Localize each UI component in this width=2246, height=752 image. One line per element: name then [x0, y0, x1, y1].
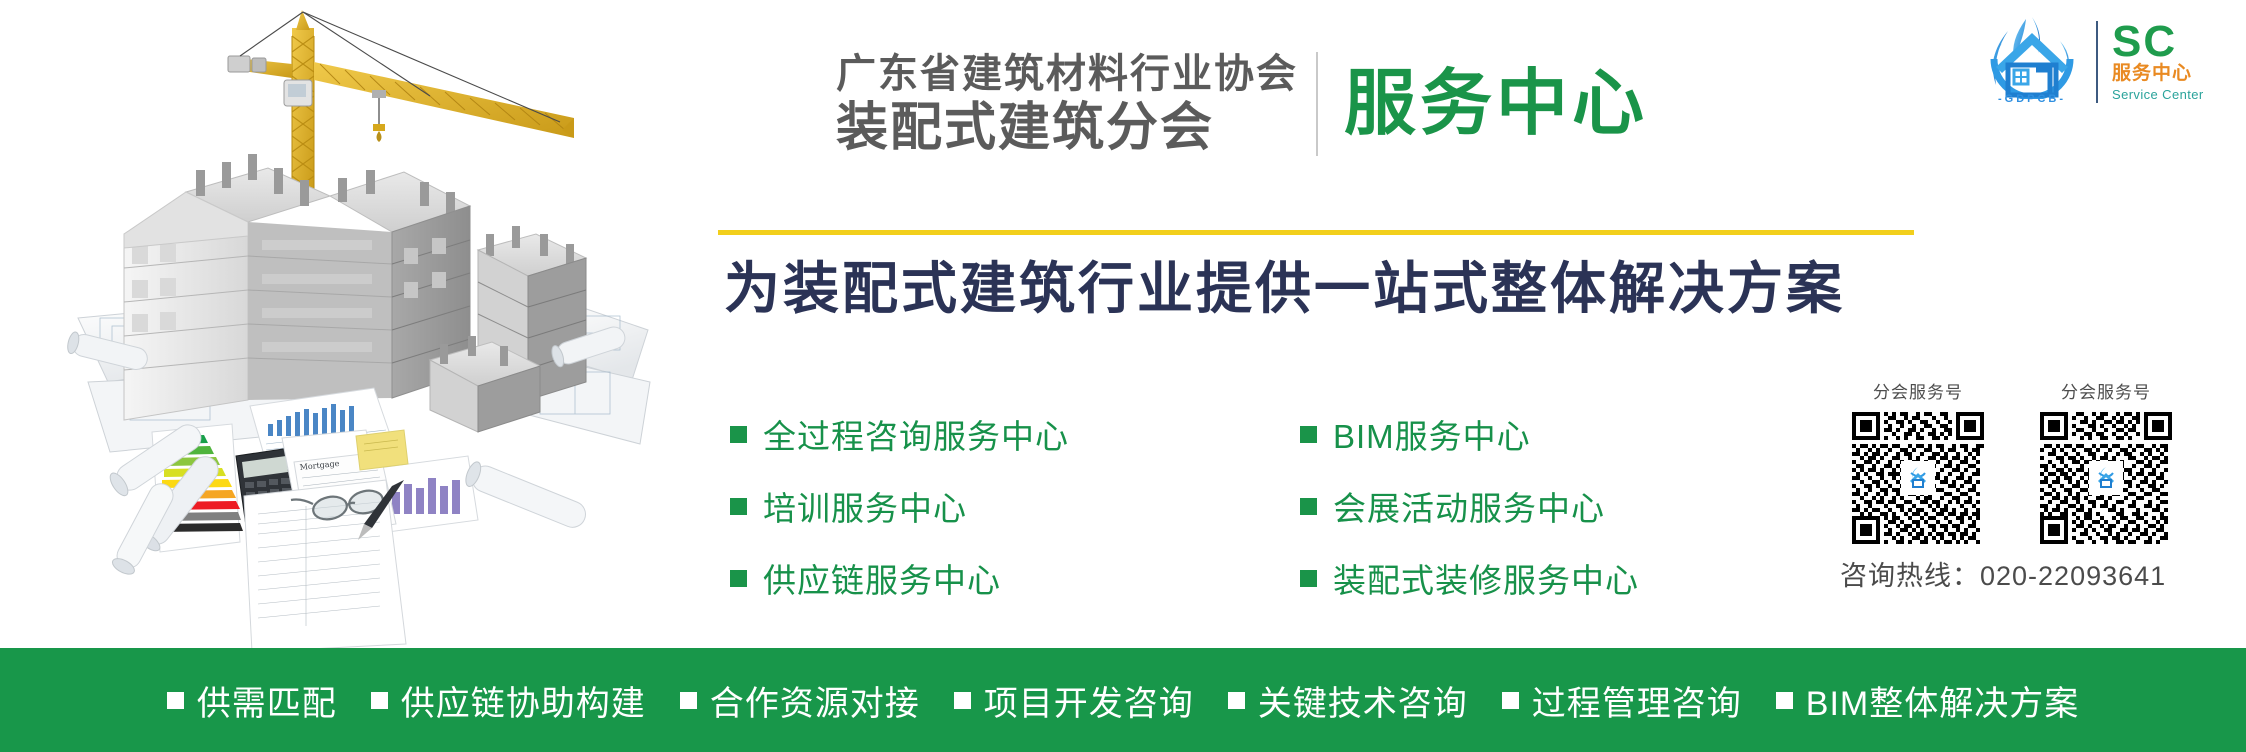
- qr-center-logo-icon: [2089, 461, 2123, 495]
- service-item[interactable]: 会展活动服务中心: [1300, 480, 1639, 532]
- service-item-label: BIM服务中心: [1333, 410, 1531, 458]
- qr-caption: 分会服务号: [2024, 378, 2188, 403]
- qr-cell[interactable]: 分会服务号: [2024, 378, 2188, 544]
- footer-item-label: 项目开发咨询: [984, 676, 1194, 725]
- service-item[interactable]: 供应链服务中心: [730, 552, 1069, 604]
- hero-construction-image: Mortgage: [0, 0, 660, 648]
- qr-cell[interactable]: 分会服务号: [1836, 378, 2000, 544]
- header-title-block: 广东省建筑材料行业协会 装配式建筑分会 服务中心: [836, 44, 1896, 164]
- square-bullet-icon: [1300, 426, 1317, 443]
- service-item[interactable]: 全过程咨询服务中心: [730, 408, 1069, 460]
- footer-item[interactable]: 供应链协助构建: [371, 676, 646, 725]
- qr-center-logo-icon: [1901, 461, 1935, 495]
- footer-item-label: BIM整体解决方案: [1806, 676, 2079, 725]
- title-divider: [1316, 52, 1318, 156]
- square-bullet-icon: [1776, 692, 1793, 709]
- footer-item[interactable]: 供需匹配: [167, 676, 337, 725]
- square-bullet-icon: [954, 692, 971, 709]
- service-item[interactable]: 装配式装修服务中心: [1300, 552, 1639, 604]
- square-bullet-icon: [1300, 498, 1317, 515]
- service-list-left: 全过程咨询服务中心 培训服务中心 供应链服务中心: [730, 408, 1069, 624]
- service-item-label: 供应链服务中心: [763, 554, 1001, 602]
- gdpcb-caption: -GDPCB-: [1972, 93, 2092, 105]
- footer-item[interactable]: 合作资源对接: [680, 676, 920, 725]
- square-bullet-icon: [1502, 692, 1519, 709]
- logo-wordmark: SC 服务中心 Service Center: [2112, 21, 2204, 104]
- logo-english-name: Service Center: [2112, 87, 2204, 103]
- service-item-label: 装配式装修服务中心: [1333, 554, 1639, 602]
- association-line-1: 广东省建筑材料行业协会: [836, 50, 1298, 99]
- association-name: 广东省建筑材料行业协会 装配式建筑分会: [836, 50, 1298, 157]
- footer-item-label: 合作资源对接: [710, 676, 920, 725]
- square-bullet-icon: [730, 498, 747, 515]
- service-item[interactable]: 培训服务中心: [730, 480, 1069, 532]
- footer-item-label: 关键技术咨询: [1258, 676, 1468, 725]
- footer-item-label: 过程管理咨询: [1532, 676, 1742, 725]
- service-item-label: 培训服务中心: [763, 482, 967, 530]
- square-bullet-icon: [730, 570, 747, 587]
- footer-item[interactable]: 过程管理咨询: [1502, 676, 1742, 725]
- logo-abbr: SC: [2112, 21, 2204, 63]
- association-line-2: 装配式建筑分会: [836, 99, 1298, 157]
- square-bullet-icon: [371, 692, 388, 709]
- service-list-right: BIM服务中心 会展活动服务中心 装配式装修服务中心: [1300, 408, 1639, 624]
- square-bullet-icon: [1300, 570, 1317, 587]
- brand-logo[interactable]: -GDPCB- SC 服务中心 Service Center: [1972, 12, 2240, 112]
- qr-row: 分会服务号: [1836, 378, 2236, 544]
- footer-item-label: 供应链协助构建: [401, 676, 646, 725]
- qr-code-image-2[interactable]: [2040, 412, 2172, 544]
- service-item-label: 会展活动服务中心: [1333, 482, 1605, 530]
- footer-keyword-bar: 供需匹配 供应链协助构建 合作资源对接 项目开发咨询 关键技术咨询 过程管理咨询…: [0, 648, 2246, 752]
- gdpcb-house-flame-icon: -GDPCB-: [1972, 13, 2092, 111]
- footer-item[interactable]: 关键技术咨询: [1228, 676, 1468, 725]
- tagline: 为装配式建筑行业提供一站式整体解决方案: [724, 258, 1944, 320]
- service-item-label: 全过程咨询服务中心: [763, 410, 1069, 458]
- logo-divider: [2096, 21, 2098, 103]
- footer-item-label: 供需匹配: [197, 676, 337, 725]
- square-bullet-icon: [730, 426, 747, 443]
- accent-divider-rule: [718, 230, 1914, 235]
- qr-caption: 分会服务号: [1836, 378, 2000, 403]
- hotline-text: 咨询热线：020-22093641: [1836, 554, 2236, 593]
- service-item[interactable]: BIM服务中心: [1300, 408, 1639, 460]
- square-bullet-icon: [167, 692, 184, 709]
- qr-contact-block: 分会服务号: [1836, 378, 2236, 593]
- service-center-title: 服务中心: [1344, 68, 1648, 140]
- footer-item[interactable]: BIM整体解决方案: [1776, 676, 2079, 725]
- footer-item[interactable]: 项目开发咨询: [954, 676, 1194, 725]
- square-bullet-icon: [1228, 692, 1245, 709]
- square-bullet-icon: [680, 692, 697, 709]
- qr-code-image-1[interactable]: [1852, 412, 1984, 544]
- banner-root: Mortgage: [0, 0, 2246, 752]
- logo-chinese-name: 服务中心: [2112, 62, 2204, 87]
